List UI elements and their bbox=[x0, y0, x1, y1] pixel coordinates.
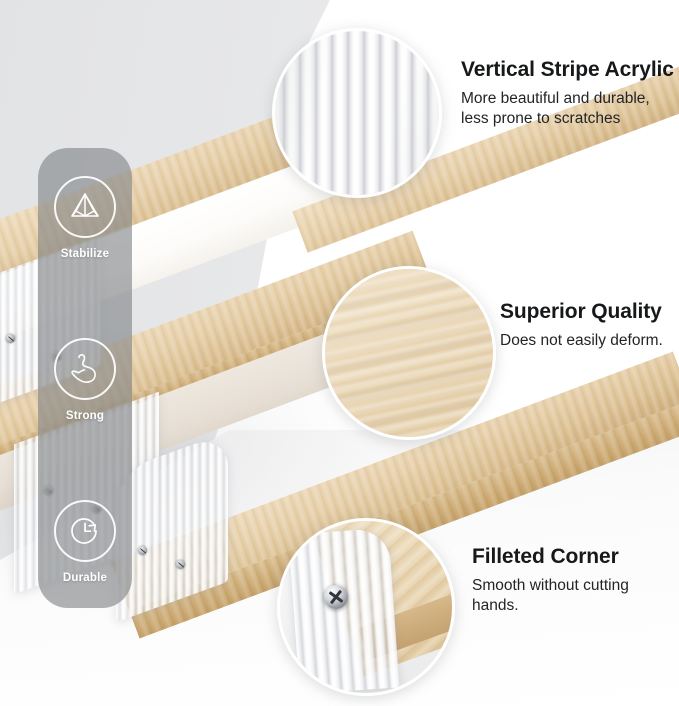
flexed-bicep-icon bbox=[54, 338, 116, 400]
clock-refresh-icon bbox=[54, 500, 116, 562]
callout-image-filleted-corner bbox=[277, 518, 455, 696]
product-infographic: Stabilize Strong Durable bbox=[0, 0, 679, 706]
callout-text-vertical-stripe-acrylic: Vertical Stripe Acrylic More beautiful a… bbox=[461, 58, 679, 129]
callout-image-superior-quality bbox=[322, 266, 496, 440]
sidebar-item-label: Stabilize bbox=[38, 248, 132, 260]
feature-sidebar: Stabilize Strong Durable bbox=[38, 148, 132, 608]
callout-text-superior-quality: Superior Quality Does not easily deform. bbox=[500, 300, 663, 351]
callout-text-filleted-corner: Filleted Corner Smooth without cutting h… bbox=[472, 545, 672, 616]
sidebar-item-label: Durable bbox=[38, 572, 132, 584]
corner-acrylic-panel bbox=[289, 528, 400, 695]
callout-description: Does not easily deform. bbox=[500, 331, 663, 351]
callout-title: Filleted Corner bbox=[472, 545, 672, 569]
corner-screw-icon bbox=[324, 585, 348, 609]
panel-screw bbox=[6, 334, 15, 343]
panel-screw bbox=[138, 546, 147, 555]
callout-description: Smooth without cutting hands. bbox=[472, 576, 672, 616]
sidebar-item-strong[interactable]: Strong bbox=[38, 338, 132, 422]
vertical-stripe-acrylic-texture bbox=[275, 31, 439, 195]
sidebar-item-label: Strong bbox=[38, 410, 132, 422]
callout-image-vertical-stripe-acrylic bbox=[272, 28, 442, 198]
panel-screw bbox=[176, 560, 185, 569]
sidebar-item-stabilize[interactable]: Stabilize bbox=[38, 176, 132, 260]
callout-description: More beautiful and durable, less prone t… bbox=[461, 89, 679, 129]
callout-title: Superior Quality bbox=[500, 300, 663, 324]
sidebar-item-durable[interactable]: Durable bbox=[38, 500, 132, 584]
callout-title: Vertical Stripe Acrylic bbox=[461, 58, 679, 82]
pyramid-icon bbox=[54, 176, 116, 238]
pine-wood-grain-texture bbox=[322, 266, 496, 440]
